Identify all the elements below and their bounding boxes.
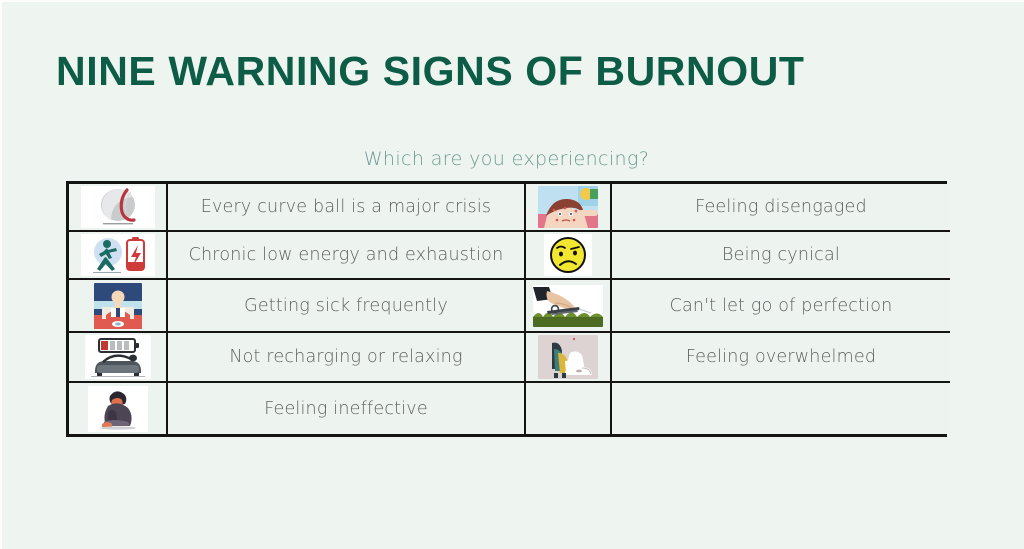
sick-person-in-bed-icon bbox=[94, 283, 142, 329]
slide-top-edge bbox=[0, 0, 1024, 2]
row-3-left-label: Getting sick frequently bbox=[167, 279, 525, 332]
row-2-right-icon-cell bbox=[525, 231, 611, 279]
person-sitting-head-down-icon bbox=[88, 386, 148, 432]
row-5-right-icon-cell bbox=[525, 382, 611, 434]
burnout-signs-table: Every curve ball is a major crisis bbox=[66, 181, 947, 437]
table-row: Every curve ball is a major crisis bbox=[69, 184, 950, 231]
walking-person-low-battery-icon bbox=[81, 234, 155, 276]
row-4-left-label: Not recharging or relaxing bbox=[167, 332, 525, 382]
row-4-right-icon-cell bbox=[525, 332, 611, 382]
person-slumped-over-chair-icon bbox=[538, 335, 598, 379]
table-row: Chronic low energy and exhaustion bbox=[69, 231, 950, 279]
hand-trimming-grass-scissors-icon bbox=[533, 285, 603, 327]
row-5-left-icon-cell bbox=[69, 382, 167, 434]
table-row: Not recharging or relaxing bbox=[69, 332, 950, 382]
curveball-baseball-icon bbox=[81, 186, 155, 228]
row-5-left-label: Feeling ineffective bbox=[167, 382, 525, 434]
row-3-left-icon-cell bbox=[69, 279, 167, 332]
row-2-right-label: Being cynical bbox=[611, 231, 950, 279]
row-4-left-icon-cell bbox=[69, 332, 167, 382]
empty-icon-slot bbox=[526, 383, 610, 434]
slide-left-edge bbox=[0, 0, 2, 549]
frowning-yellow-face-icon bbox=[544, 234, 592, 276]
table-row: Feeling ineffective bbox=[69, 382, 950, 434]
sick-child-measles-icon bbox=[538, 186, 598, 228]
row-2-left-label: Chronic low energy and exhaustion bbox=[167, 231, 525, 279]
row-1-left-icon-cell bbox=[69, 184, 167, 231]
row-1-left-label: Every curve ball is a major crisis bbox=[167, 184, 525, 231]
row-5-right-label bbox=[611, 382, 950, 434]
row-1-right-icon-cell bbox=[525, 184, 611, 231]
row-2-left-icon-cell bbox=[69, 231, 167, 279]
page-title: NINE WARNING SIGNS OF BURNOUT bbox=[56, 48, 805, 95]
row-4-right-label: Feeling overwhelmed bbox=[611, 332, 950, 382]
row-3-right-label: Can't let go of perfection bbox=[611, 279, 950, 332]
table-row: Getting sick frequently bbox=[69, 279, 950, 332]
slide-canvas: NINE WARNING SIGNS OF BURNOUT Which are … bbox=[0, 0, 1024, 549]
empty-battery-sofa-icon bbox=[85, 335, 151, 379]
row-3-right-icon-cell bbox=[525, 279, 611, 332]
row-1-right-label: Feeling disengaged bbox=[611, 184, 950, 231]
page-subtitle: Which are you experiencing? bbox=[66, 148, 947, 170]
